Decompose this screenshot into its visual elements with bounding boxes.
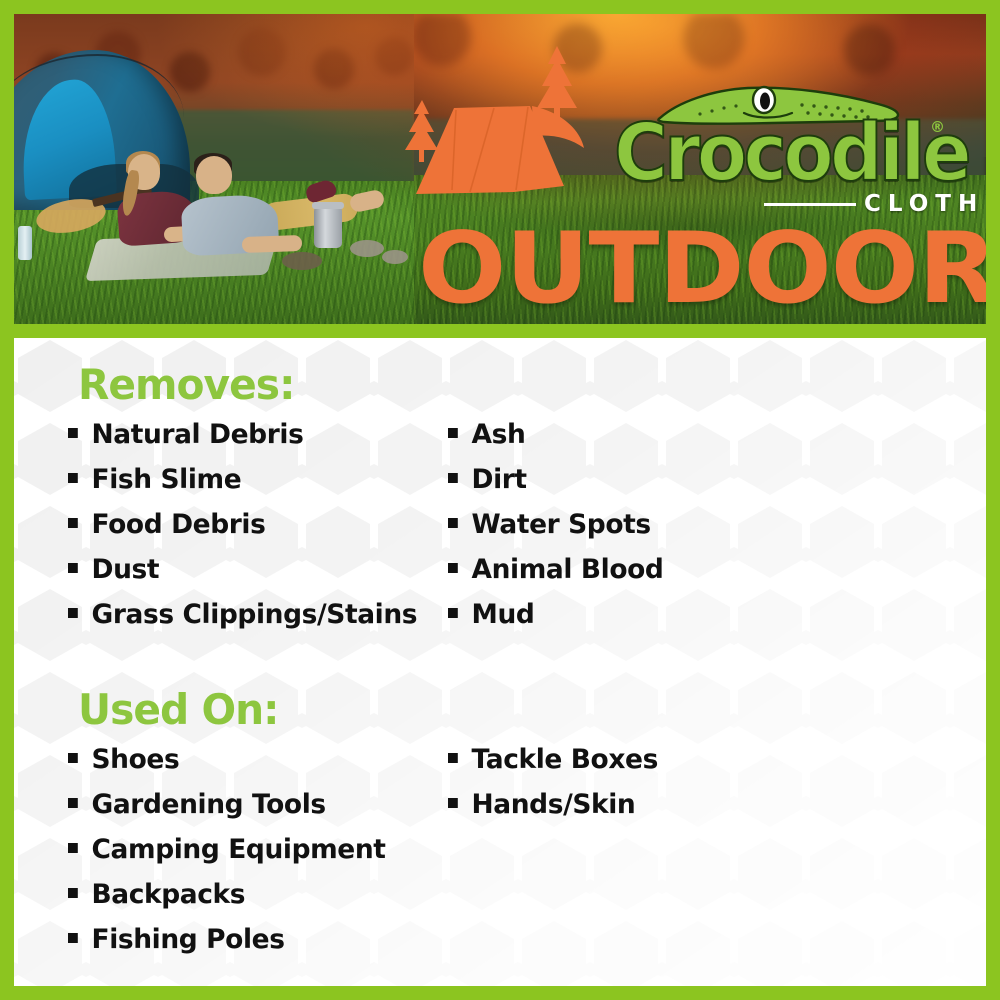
- bullet-square-icon: [68, 563, 78, 573]
- logo-wordmark: Crocodile: [614, 114, 968, 193]
- bullet-square-icon: [68, 798, 78, 808]
- list-item-label: Dirt: [472, 465, 527, 495]
- removes-right-column: Ash Dirt Water Spots Animal Blood: [448, 420, 808, 645]
- list-item: Natural Debris: [68, 420, 440, 450]
- bullet-square-icon: [68, 888, 78, 898]
- list-item: Mud: [448, 600, 801, 630]
- bullet-square-icon: [448, 563, 458, 573]
- bullet-square-icon: [448, 753, 458, 763]
- list-item: Fishing Poles: [68, 925, 440, 955]
- list-item-label: Mud: [472, 600, 535, 630]
- bullet-square-icon: [448, 473, 458, 483]
- list-item: Camping Equipment: [68, 835, 440, 865]
- photo-sun-flare: [14, 14, 414, 324]
- removes-left-column: Natural Debris Fish Slime Food Debris Du…: [68, 420, 448, 645]
- list-item-label: Natural Debris: [92, 420, 304, 450]
- used-on-left-column: Shoes Gardening Tools Camping Equipment …: [68, 745, 448, 970]
- bullet-square-icon: [448, 608, 458, 618]
- list-item: Backpacks: [68, 880, 440, 910]
- list-item-label: Fish Slime: [92, 465, 242, 495]
- section-heading-used-on: Used On:: [78, 687, 959, 733]
- removes-columns: Natural Debris Fish Slime Food Debris Du…: [68, 420, 986, 645]
- list-item-label: Food Debris: [92, 510, 266, 540]
- list-item: Dirt: [448, 465, 801, 495]
- used-on-columns: Shoes Gardening Tools Camping Equipment …: [68, 745, 986, 970]
- list-item-label: Hands/Skin: [472, 790, 636, 820]
- list-item-label: Camping Equipment: [92, 835, 386, 865]
- list-item: Dust: [68, 555, 440, 585]
- list-item-label: Water Spots: [472, 510, 651, 540]
- list-item-label: Gardening Tools: [92, 790, 326, 820]
- bullet-square-icon: [448, 518, 458, 528]
- list-item: Food Debris: [68, 510, 440, 540]
- tent-pines-silhouette-icon: [394, 38, 644, 238]
- list-item: Hands/Skin: [448, 790, 801, 820]
- list-item: Ash: [448, 420, 801, 450]
- content-card: Removes: Natural Debris Fish Slime Food …: [14, 338, 986, 986]
- product-infographic: Crocodile ® CLOTH OUTDOOR: [0, 0, 1000, 1000]
- list-item: Shoes: [68, 745, 440, 775]
- list-item-label: Animal Blood: [472, 555, 664, 585]
- list-item-label: Backpacks: [92, 880, 246, 910]
- crocodile-cloth-logo: Crocodile ® CLOTH: [614, 90, 954, 215]
- header-banner: Crocodile ® CLOTH OUTDOOR: [14, 14, 986, 324]
- list-item: Grass Clippings/Stains: [68, 600, 440, 630]
- bullet-square-icon: [68, 518, 78, 528]
- list-item-label: Grass Clippings/Stains: [92, 600, 418, 630]
- bullet-square-icon: [68, 608, 78, 618]
- logo-rule-left: [764, 203, 856, 206]
- card-content: Removes: Natural Debris Fish Slime Food …: [14, 338, 986, 970]
- registered-trademark-icon: ®: [930, 118, 945, 136]
- camping-photo: [14, 14, 414, 324]
- list-item-label: Tackle Boxes: [472, 745, 658, 775]
- list-item: Water Spots: [448, 510, 801, 540]
- bullet-square-icon: [68, 428, 78, 438]
- bullet-square-icon: [448, 428, 458, 438]
- bullet-square-icon: [68, 933, 78, 943]
- list-item-label: Ash: [472, 420, 526, 450]
- section-heading-removes: Removes:: [78, 362, 959, 408]
- product-line-title: OUTDOOR: [418, 220, 986, 318]
- list-item: Fish Slime: [68, 465, 440, 495]
- bullet-square-icon: [448, 798, 458, 808]
- list-item-label: Shoes: [92, 745, 180, 775]
- list-item-label: Dust: [92, 555, 160, 585]
- list-item: Gardening Tools: [68, 790, 440, 820]
- bullet-square-icon: [68, 843, 78, 853]
- bullet-square-icon: [68, 753, 78, 763]
- list-item: Animal Blood: [448, 555, 801, 585]
- used-on-right-column: Tackle Boxes Hands/Skin: [448, 745, 808, 970]
- list-item-label: Fishing Poles: [92, 925, 285, 955]
- bullet-square-icon: [68, 473, 78, 483]
- list-item: Tackle Boxes: [448, 745, 801, 775]
